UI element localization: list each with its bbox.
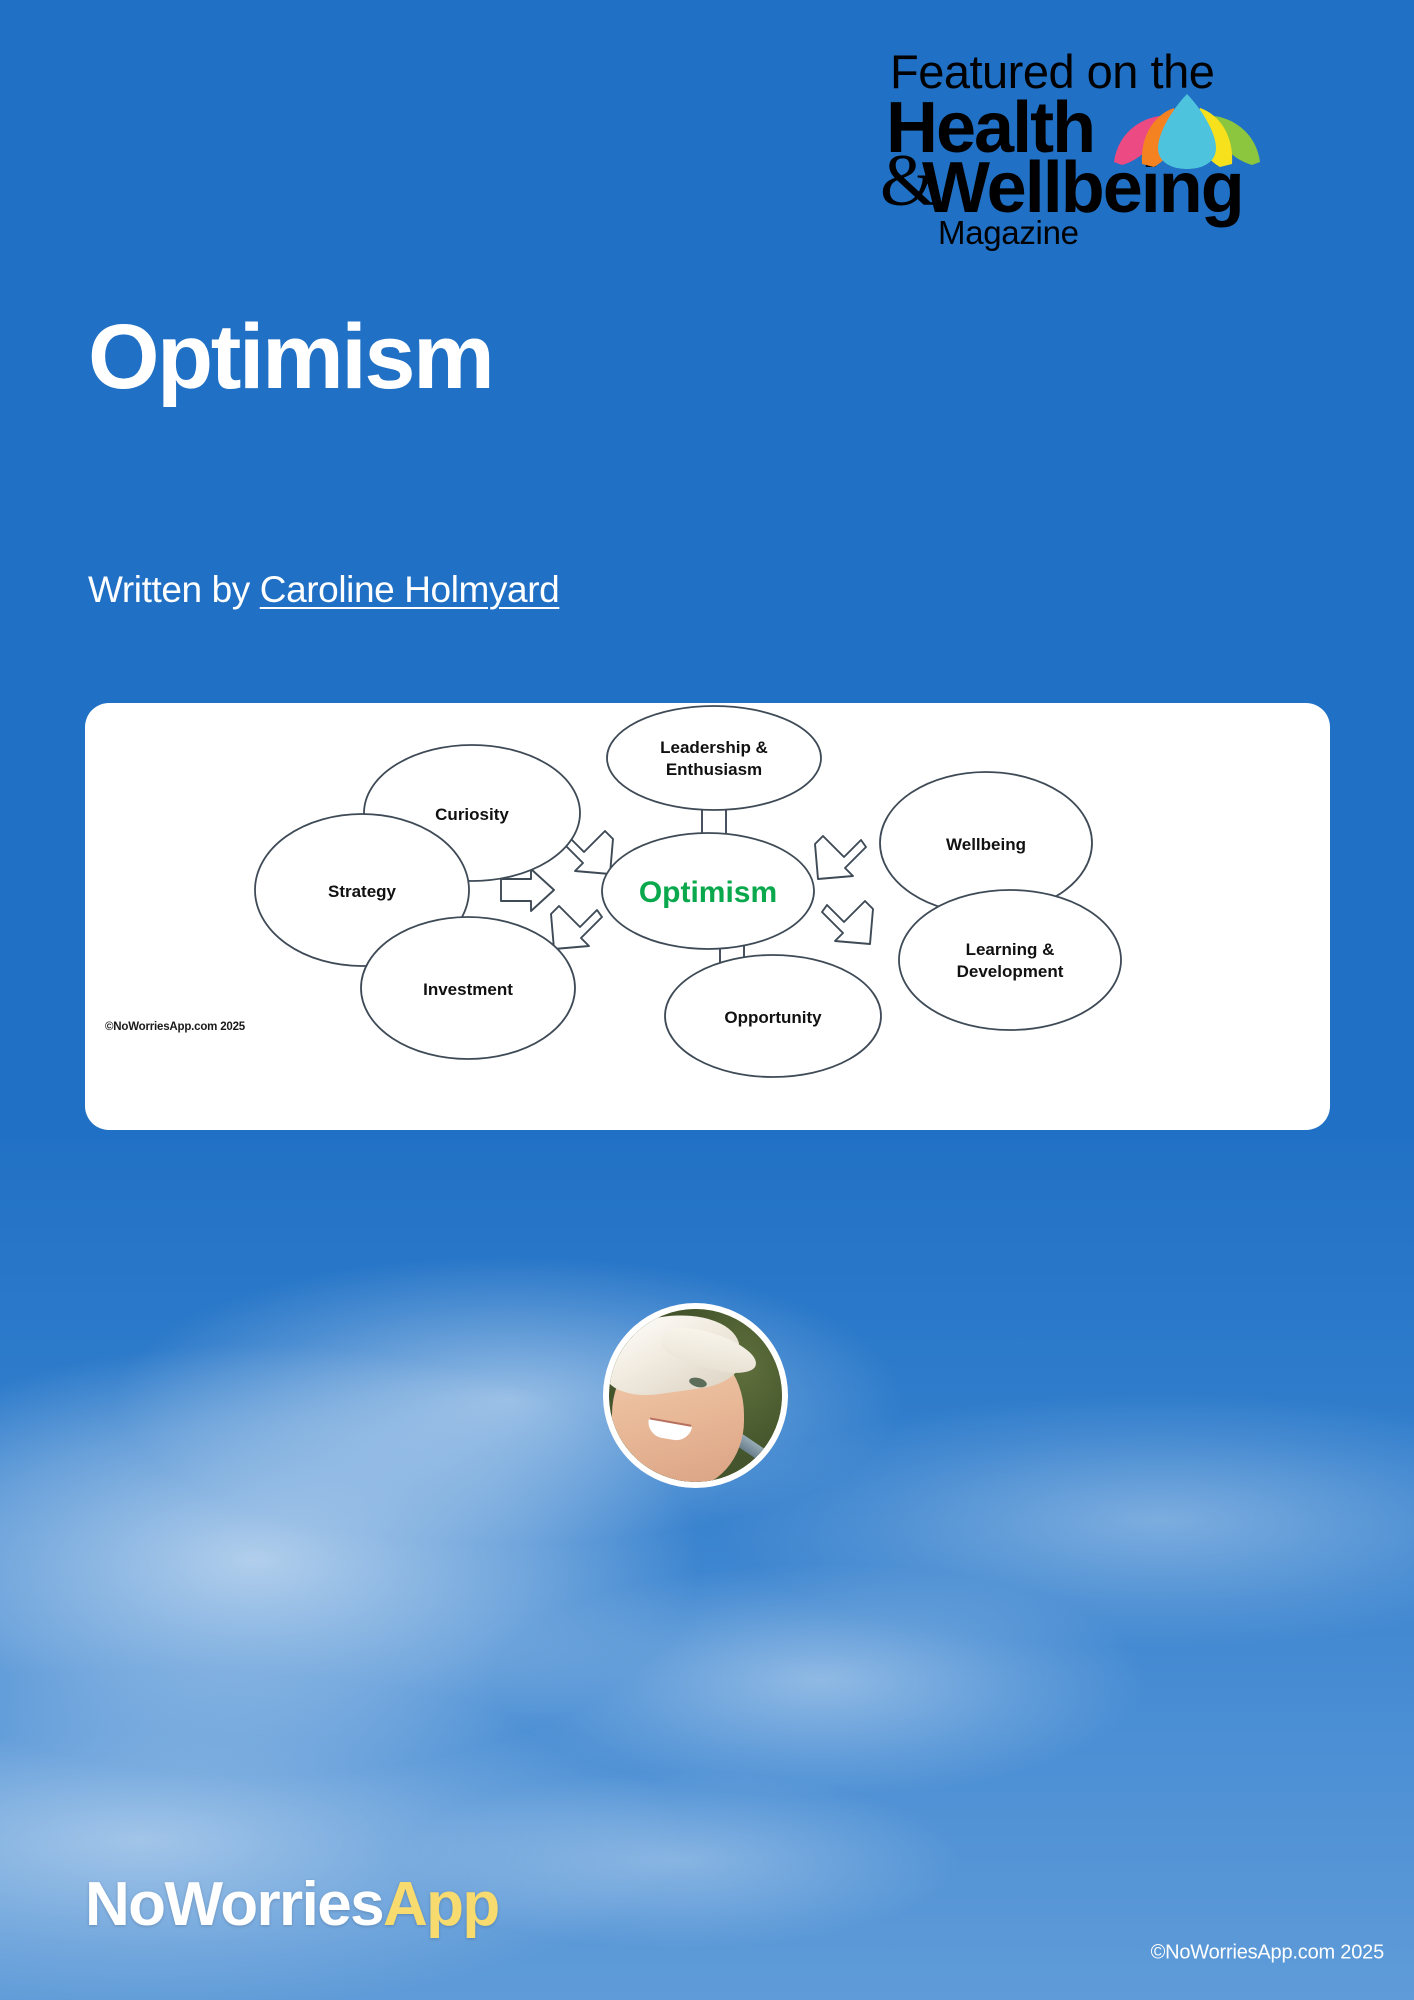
node-label-strategy: Strategy: [328, 882, 397, 901]
diagram-card: Leadership & Enthusiasm Curiosity Wellbe…: [85, 703, 1330, 1130]
arrow-wellbeing-to-optimism: [815, 836, 866, 879]
node-label-investment: Investment: [423, 980, 513, 999]
badge-magazine-text: Magazine: [938, 216, 1079, 249]
byline-prefix: Written by: [88, 569, 260, 610]
author-link[interactable]: Caroline Holmyard: [260, 569, 560, 610]
byline: Written by Caroline Holmyard: [88, 569, 559, 611]
node-label-opportunity: Opportunity: [724, 1008, 822, 1027]
arrow-investment-to-optimism: [551, 906, 602, 949]
magazine-feature-badge: Featured on the Health & Wellbeing Magaz…: [880, 48, 1350, 243]
node-label-wellbeing: Wellbeing: [946, 835, 1026, 854]
node-investment[interactable]: Investment: [361, 917, 575, 1059]
brand-app: App: [383, 1870, 499, 1939]
hub-label-optimism: Optimism: [639, 876, 777, 909]
node-optimism-hub[interactable]: Optimism: [602, 833, 814, 949]
diagram-copyright: ©NoWorriesApp.com 2025: [105, 1021, 245, 1033]
brand-noworries: NoWorries: [85, 1870, 383, 1939]
brand-wordmark: NoWorriesApp: [85, 1874, 499, 1936]
node-leadership-enthusiasm[interactable]: Leadership & Enthusiasm: [607, 706, 821, 810]
node-opportunity[interactable]: Opportunity: [665, 955, 881, 1077]
page-title: Optimism: [88, 311, 492, 403]
footer-copyright: ©NoWorriesApp.com 2025: [1151, 1942, 1384, 1965]
node-learning-development[interactable]: Learning & Development: [899, 890, 1121, 1030]
article-cover-page: Featured on the Health & Wellbeing Magaz…: [0, 0, 1414, 2000]
avatar: [603, 1303, 788, 1488]
node-label-leadership-line1: Leadership &: [660, 738, 768, 757]
node-label-learning-line2: Development: [957, 962, 1064, 981]
arrow-learning-to-optimism: [822, 901, 873, 944]
node-label-learning-line1: Learning &: [966, 940, 1055, 959]
avatar-photo: [609, 1309, 782, 1482]
optimism-concept-diagram: Leadership & Enthusiasm Curiosity Wellbe…: [85, 703, 1330, 1130]
lotus-flower-icon: [1112, 92, 1262, 170]
node-label-curiosity: Curiosity: [435, 805, 509, 824]
node-label-leadership-line2: Enthusiasm: [666, 760, 762, 779]
